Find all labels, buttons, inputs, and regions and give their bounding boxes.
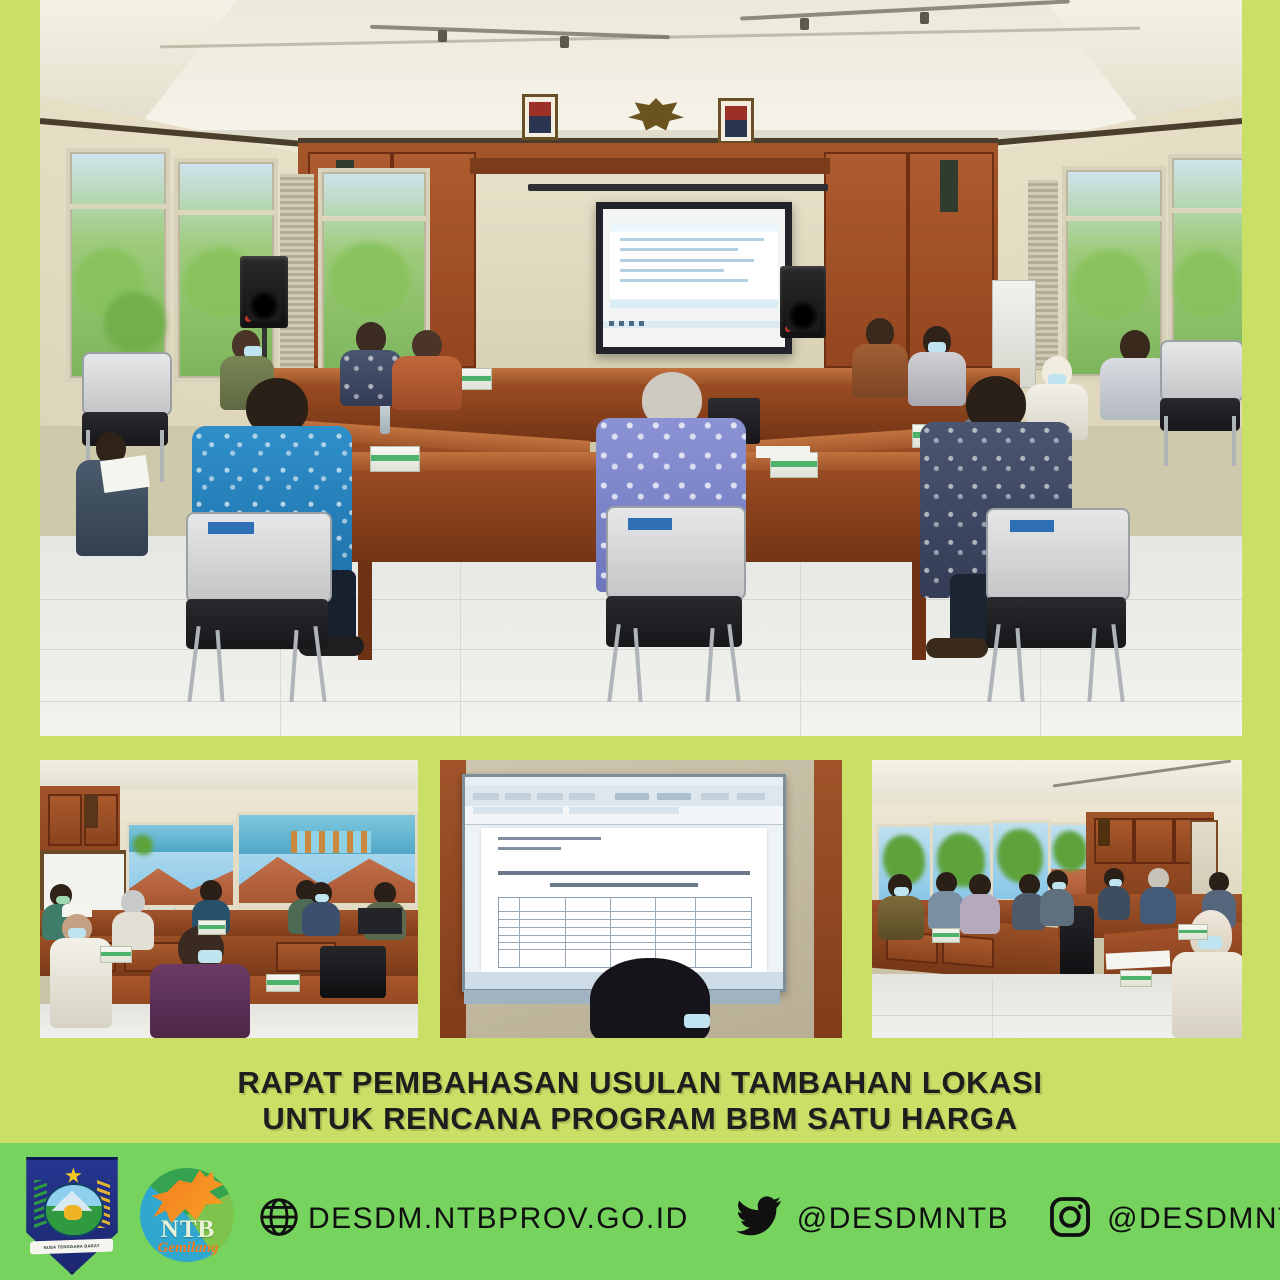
twitter-icon	[735, 1196, 783, 1243]
social-links-row: DESDM.NTBPROV.GO.ID @DESDMNTB @DESDMNTB	[256, 1191, 1280, 1247]
main-photo-scene	[40, 0, 1242, 736]
t2-projection-screen	[462, 774, 786, 992]
poster-title-line-2: UNTUK RENCANA PROGRAM BBM SATU HARGA	[0, 1100, 1280, 1138]
gemilang-subtext: Gemilang	[148, 1240, 228, 1257]
instagram-handle: @DESDMNTB	[1107, 1202, 1280, 1236]
t1-participant-2-kopiah	[50, 904, 112, 1028]
t2-data-table	[498, 897, 752, 968]
t3-participant-2	[928, 872, 964, 930]
vice-president-portrait	[718, 98, 754, 144]
spotlight-3	[800, 18, 809, 30]
t1-participant-front-purple	[150, 926, 250, 1038]
window-left-1	[66, 148, 170, 382]
emblem-inner	[32, 1169, 111, 1247]
snack-box-1	[370, 446, 420, 472]
globe-icon	[256, 1194, 302, 1245]
emblem-motto-ribbon: NUSA TENGGARA BARAT	[30, 1238, 113, 1254]
thumbnail-row	[40, 760, 1242, 1038]
projected-document	[610, 223, 777, 309]
twitter-handle: @DESDMNTB	[797, 1202, 1009, 1236]
t3-snack-box-3	[932, 928, 960, 943]
chair-number-tag	[208, 522, 254, 534]
chair-front-left	[186, 512, 328, 702]
t3-participant-3	[960, 874, 1000, 934]
main-photo	[40, 0, 1242, 736]
shoe-right	[926, 638, 988, 658]
emblem-star-icon	[65, 1167, 82, 1184]
spotlight-4	[920, 12, 929, 24]
t3-snack-box-1	[1120, 970, 1152, 987]
participant-far-left-seated	[76, 432, 148, 592]
t1-cabinet-panel	[48, 794, 82, 846]
t3-participant-6	[1098, 868, 1130, 920]
t1-snack-box-2	[266, 974, 300, 992]
t3-participant-5	[1040, 870, 1074, 926]
emblem-motto-text: NUSA TENGGARA BARAT	[44, 1243, 100, 1250]
t2-document-page	[481, 828, 767, 972]
t2-person-mask	[684, 1014, 710, 1028]
thumbnail-center-projection	[440, 760, 842, 1038]
participant-back-4	[852, 318, 908, 398]
ntb-gemilang-logo: NTB Gemilang	[132, 1160, 244, 1272]
participant-back-3	[392, 330, 462, 410]
instagram-icon	[1047, 1194, 1093, 1245]
t3-participant-7	[1140, 868, 1176, 924]
website-link[interactable]: DESDM.NTBPROV.GO.ID	[256, 1194, 689, 1245]
t1-projector-case	[320, 946, 386, 998]
chair-front-right	[986, 508, 1126, 702]
website-label: DESDM.NTBPROV.GO.ID	[308, 1202, 689, 1236]
ntb-provincial-emblem: NUSA TENGGARA BARAT	[20, 1157, 124, 1275]
t1-snack-box-3	[198, 920, 226, 935]
president-portrait	[522, 94, 558, 140]
spotlight-2	[560, 36, 569, 48]
t2-app-ribbon	[465, 777, 783, 825]
poster-title-line-1: RAPAT PEMBAHASAN USULAN TAMBAHAN LOKASI	[0, 1064, 1280, 1102]
t3-papers	[1106, 950, 1171, 969]
screen-roller-bar	[528, 184, 828, 191]
speaker-right	[780, 266, 826, 338]
held-paper	[100, 455, 150, 493]
t1-snack-box-1	[100, 946, 132, 963]
projection-screen	[596, 202, 792, 354]
spotlight-1	[438, 30, 447, 42]
t3-participant-1	[878, 874, 924, 940]
empty-chair-far-right	[1160, 340, 1240, 466]
twitter-link[interactable]: @DESDMNTB	[735, 1196, 1009, 1243]
speaker-left	[240, 256, 288, 328]
t1-building-windows	[291, 831, 371, 853]
t3-snack-box-2	[1178, 924, 1208, 940]
thumbnail-left	[40, 760, 418, 1038]
t1-participant-6	[302, 882, 340, 936]
chair-front-center	[606, 506, 742, 702]
t1-speaker-wall	[84, 794, 98, 828]
chair-number-tag	[628, 518, 672, 530]
instagram-link[interactable]: @DESDMNTB	[1047, 1194, 1280, 1245]
t2-right-wall	[814, 760, 842, 1038]
t3-wall-speaker	[1098, 818, 1110, 846]
t1-participant-3	[112, 890, 154, 950]
alcove-header-beam	[470, 158, 830, 174]
t1-laptop	[358, 908, 402, 934]
chair-number-tag	[1010, 520, 1054, 532]
papers-stack	[756, 446, 810, 458]
t2-doc-heading-2	[550, 883, 699, 887]
t3-cab-panel-2	[1134, 818, 1174, 864]
wall-niche-right	[940, 160, 958, 212]
emblem-deer-icon	[64, 1205, 82, 1220]
t2-doc-heading-1	[498, 871, 750, 875]
projected-taskbar	[603, 321, 785, 328]
thumbnail-right	[872, 760, 1242, 1038]
